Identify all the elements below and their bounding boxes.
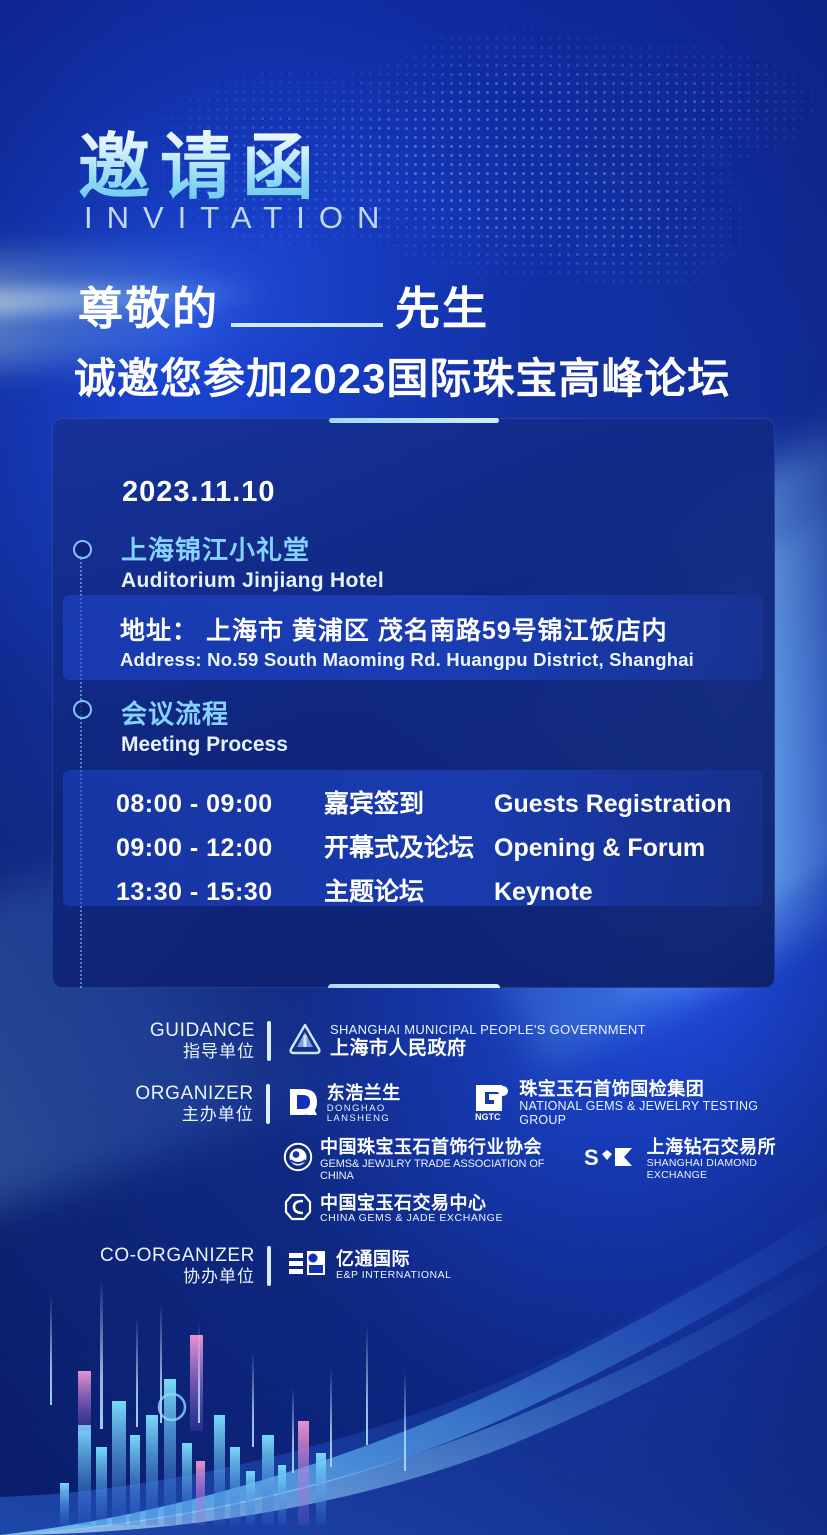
logo-donghao-lansheng: 东浩兰生 DONGHAO LANSHENG (286, 1084, 453, 1125)
ngtc-logo-icon: NGTC (472, 1083, 512, 1126)
schedule-row: 13:30 - 15:30主题论坛Keynote (116, 870, 766, 914)
venue-name-cn: 上海锦江小礼堂 (121, 530, 310, 567)
organizer-divider (266, 1084, 270, 1124)
ep-international-text: 亿通国际 E&P INTERNATIONAL (336, 1250, 451, 1281)
schedule-cell-name-cn: 嘉宾签到 (324, 782, 494, 826)
co-organizer-label-en: CO-ORGANIZER (0, 1245, 255, 1267)
guidance-divider (267, 1021, 271, 1061)
invitation-poster: 邀请函 INVITATION 尊敬的 先生 诚邀您参加2023国际珠宝高峰论坛 … (0, 0, 827, 1535)
china-gems-jade-exchange-name-en: CHINA GEMS & JADE EXCHANGE (320, 1213, 503, 1225)
guidance-label-cn: 指导单位 (0, 1042, 255, 1062)
co-organizer-divider (267, 1246, 271, 1286)
shanghai-government-name-en: SHANGHAI MUNICIPAL PEOPLE'S GOVERNMENT (330, 1023, 646, 1037)
schedule-cell-name-cn: 主题论坛 (324, 870, 494, 914)
gems-jewelry-association-logo-icon (283, 1142, 313, 1177)
svg-text:S: S (584, 1145, 599, 1170)
shanghai-government-name-cn: 上海市人民政府 (330, 1039, 646, 1060)
timeline-dot-process (73, 700, 92, 719)
schedule-cell-time: 08:00 - 09:00 (116, 782, 324, 826)
guidance-label-en: GUIDANCE (0, 1020, 255, 1042)
salutation-prefix: 尊敬的 (78, 272, 219, 337)
gems-jewelry-association-name-cn: 中国珠宝玉石首饰行业协会 (320, 1138, 564, 1158)
donghao-lansheng-text: 东浩兰生 DONGHAO LANSHENG (327, 1084, 453, 1125)
card-top-accent-bar (329, 418, 499, 423)
gems-jewelry-association-name-en: GEMS& JEWJLRY TRADE ASSOCIATION OF CHINA (320, 1158, 564, 1182)
page-title: 邀请函 (78, 108, 324, 213)
event-address-en: Address: No.59 South Maoming Rd. Huangpu… (120, 649, 694, 671)
schedule-table: 08:00 - 09:00嘉宾签到Guests Registration09:0… (116, 782, 766, 914)
ngtc-text: 珠宝玉石首饰国检集团 NATIONAL GEMS & JEWELRY TESTI… (519, 1080, 807, 1127)
sponsor-row-co-organizer: CO-ORGANIZER 协办单位 亿通国际 E (0, 1245, 827, 1287)
event-date: 2023.11.10 (122, 476, 276, 509)
event-info-card: 2023.11.10 上海锦江小礼堂 Auditorium Jinjiang H… (52, 418, 775, 988)
donghao-lansheng-logo-icon (286, 1086, 320, 1123)
shanghai-government-text: SHANGHAI MUNICIPAL PEOPLE'S GOVERNMENT 上… (330, 1023, 646, 1060)
co-organizer-label-cn: 协办单位 (0, 1267, 255, 1287)
ep-international-logo-icon (287, 1248, 329, 1283)
sponsor-row-associations: 中国珠宝玉石首饰行业协会 GEMS& JEWJLRY TRADE ASSOCIA… (0, 1138, 827, 1182)
meeting-process-heading-en: Meeting Process (121, 733, 288, 757)
ep-international-name-en: E&P INTERNATIONAL (336, 1270, 451, 1282)
timeline-dot-venue (73, 540, 92, 559)
sponsor-row-organizer: ORGANIZER 主办单位 东浩兰生 DONGHAO LANSHENG (0, 1080, 827, 1127)
card-bottom-accent-bar (328, 984, 500, 988)
schedule-cell-time: 13:30 - 15:30 (116, 870, 324, 914)
logo-ep-international: 亿通国际 E&P INTERNATIONAL (287, 1248, 451, 1283)
logo-shanghai-diamond-exchange: S 上海钻石交易所 SHANGHAI DIAMOND EXCHANGE (584, 1138, 807, 1181)
sponsor-row-guidance: GUIDANCE 指导单位 SHANGHAI MUNICIPAL PEOPLE'… (0, 1020, 827, 1062)
recipient-name-blank (231, 323, 383, 327)
schedule-cell-time: 09:00 - 12:00 (116, 826, 324, 870)
shanghai-government-emblem-icon (287, 1022, 323, 1061)
organizer-label: ORGANIZER 主办单位 (0, 1083, 266, 1125)
schedule-cell-name-en: Keynote (494, 870, 766, 914)
schedule-cell-name-en: Guests Registration (494, 782, 766, 826)
logo-gems-jewelry-association: 中国珠宝玉石首饰行业协会 GEMS& JEWJLRY TRADE ASSOCIA… (283, 1138, 564, 1182)
city-skyline-decoration (0, 1275, 827, 1535)
meeting-process-heading-cn: 会议流程 (121, 694, 229, 731)
shanghai-diamond-exchange-text: 上海钻石交易所 SHANGHAI DIAMOND EXCHANGE (647, 1138, 807, 1181)
shanghai-diamond-exchange-name-cn: 上海钻石交易所 (647, 1138, 807, 1158)
svg-text:NGTC: NGTC (475, 1112, 501, 1121)
schedule-row: 09:00 - 12:00开幕式及论坛Opening & Forum (116, 826, 766, 870)
ep-international-name-cn: 亿通国际 (336, 1250, 451, 1270)
venue-name-en: Auditorium Jinjiang Hotel (121, 569, 384, 593)
logo-ngtc: NGTC 珠宝玉石首饰国检集团 NATIONAL GEMS & JEWELRY … (472, 1080, 807, 1127)
event-subtitle: 诚邀您参加2023国际珠宝高峰论坛 (74, 345, 730, 406)
china-gems-jade-exchange-text: 中国宝玉石交易中心 CHINA GEMS & JADE EXCHANGE (320, 1194, 503, 1225)
salutation-suffix: 先生 (395, 272, 489, 337)
logo-china-gems-jade-exchange: 中国宝玉石交易中心 CHINA GEMS & JADE EXCHANGE (283, 1192, 503, 1227)
shanghai-diamond-exchange-name-en: SHANGHAI DIAMOND EXCHANGE (647, 1158, 807, 1181)
ngtc-name-cn: 珠宝玉石首饰国检集团 (519, 1080, 807, 1100)
salutation: 尊敬的 先生 (78, 272, 489, 337)
logo-shanghai-government: SHANGHAI MUNICIPAL PEOPLE'S GOVERNMENT 上… (287, 1022, 646, 1061)
china-gems-jade-exchange-logo-icon (283, 1192, 313, 1227)
shanghai-diamond-exchange-logo-icon: S (584, 1144, 640, 1175)
donghao-lansheng-name-cn: 东浩兰生 (327, 1084, 453, 1104)
schedule-cell-name-en: Opening & Forum (494, 826, 766, 870)
schedule-row: 08:00 - 09:00嘉宾签到Guests Registration (116, 782, 766, 826)
co-organizer-label: CO-ORGANIZER 协办单位 (0, 1245, 267, 1287)
page-title-en: INVITATION (84, 200, 393, 236)
china-gems-jade-exchange-name-cn: 中国宝玉石交易中心 (320, 1194, 503, 1214)
guidance-label: GUIDANCE 指导单位 (0, 1020, 267, 1062)
ngtc-name-en: NATIONAL GEMS & JEWELRY TESTING GROUP (519, 1100, 807, 1128)
gems-jewelry-association-text: 中国珠宝玉石首饰行业协会 GEMS& JEWJLRY TRADE ASSOCIA… (320, 1138, 564, 1182)
donghao-lansheng-name-en: DONGHAO LANSHENG (327, 1104, 453, 1125)
sponsor-row-jade-exchange: 中国宝玉石交易中心 CHINA GEMS & JADE EXCHANGE (0, 1192, 827, 1227)
organizer-label-en: ORGANIZER (0, 1083, 254, 1105)
sponsors-section: GUIDANCE 指导单位 SHANGHAI MUNICIPAL PEOPLE'… (0, 1020, 827, 1287)
event-address-cn: 地址： 上海市 黄浦区 茂名南路59号锦江饭店内 (120, 611, 668, 647)
schedule-cell-name-cn: 开幕式及论坛 (324, 826, 494, 870)
organizer-label-cn: 主办单位 (0, 1105, 254, 1125)
